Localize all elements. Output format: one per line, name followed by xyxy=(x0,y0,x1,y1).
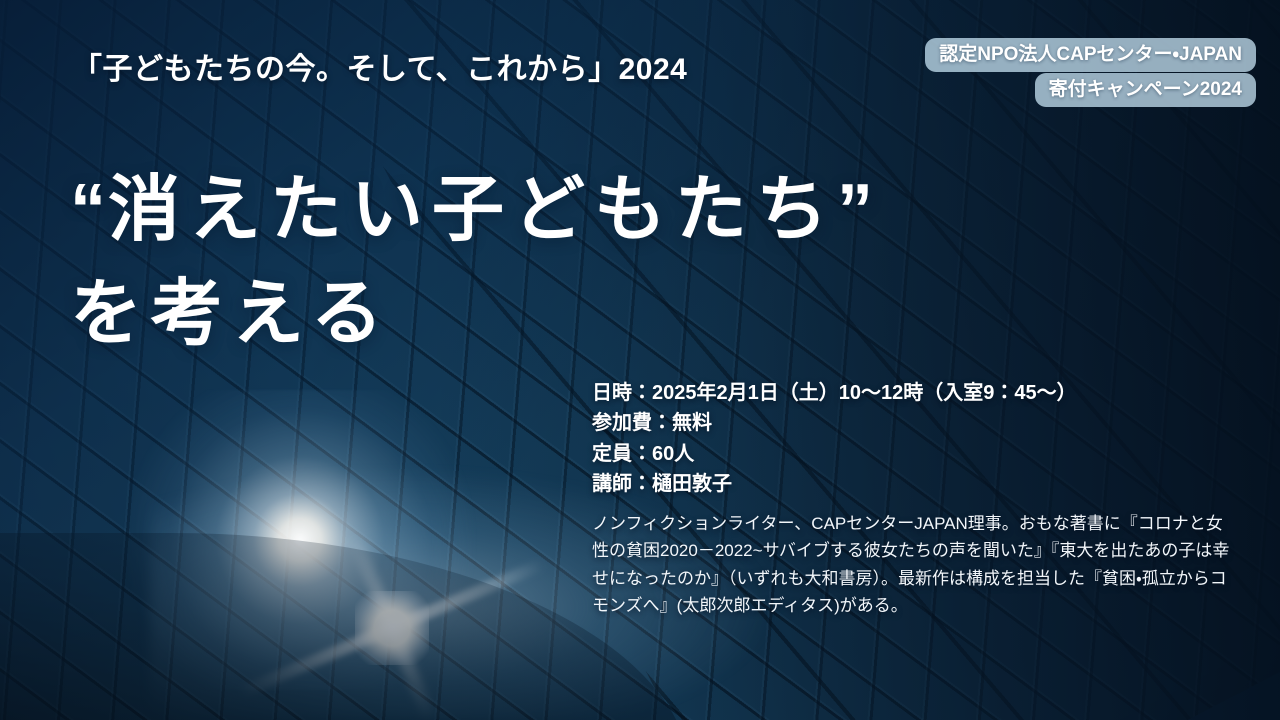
lecturer-biography: ノンフィクションライター、CAPセンターJAPAN理事。おもな著書に『コロナと女… xyxy=(592,510,1232,620)
detail-row-datetime: 日時：2025年2月1日（土）10〜12時（入室9：45〜） xyxy=(592,378,1232,408)
open-quote-glyph: “ xyxy=(70,170,108,250)
detail-row-capacity: 定員：60人 xyxy=(592,439,1232,469)
close-quote-glyph: ” xyxy=(837,170,875,250)
event-details: 日時：2025年2月1日（土）10〜12時（入室9：45〜） 参加費：無料 定員… xyxy=(592,378,1232,620)
badge-line-organization: 認定NPO法人CAPセンター・JAPAN xyxy=(925,38,1256,72)
headline-line-2: を考える xyxy=(70,262,875,366)
flyer-content: 「子どもたちの今。そして、これから」2024 認定NPO法人CAPセンター・JA… xyxy=(0,0,1280,720)
page-title: “消えたい子どもたち” を考える xyxy=(70,158,875,367)
series-kicker: 「子どもたちの今。そして、これから」2024 xyxy=(72,44,687,88)
detail-row-lecturer: 講師：樋田敦子 xyxy=(592,469,1232,499)
flyer-canvas: 「子どもたちの今。そして、これから」2024 認定NPO法人CAPセンター・JA… xyxy=(0,0,1280,720)
detail-row-fee: 参加費：無料 xyxy=(592,408,1232,438)
badge-line-campaign: 寄付キャンペーン2024 xyxy=(1035,73,1256,107)
organization-badge: 認定NPO法人CAPセンター・JAPAN 寄付キャンペーン2024 xyxy=(925,38,1256,107)
headline-main-text: 消えたい子どもたち xyxy=(108,170,837,250)
headline-line-1: “消えたい子どもたち” xyxy=(70,158,875,262)
